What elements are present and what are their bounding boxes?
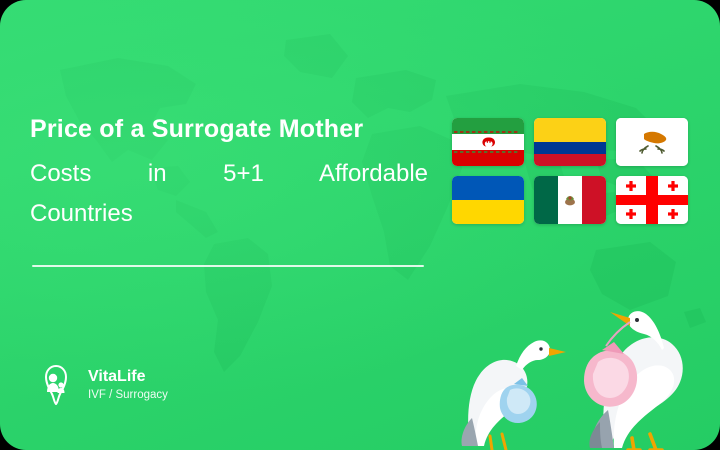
page-title: Price of a Surrogate Mother [30,112,445,146]
flag-iran [452,118,524,166]
promo-card: Price of a Surrogate Mother Costs in 5+1… [0,0,720,450]
flag-colombia [534,118,606,166]
flag-cyprus [616,118,688,166]
flag-ukraine [452,176,524,224]
brand-tagline: IVF / Surrogacy [88,387,168,404]
mother-and-baby-icon [36,362,76,408]
title-divider [32,265,424,267]
subtitle-line-1: Costs in 5+1 Affordable [30,154,428,194]
flag-grid [452,118,688,224]
flag-mexico [534,176,606,224]
subtitle-line-2: Countries [30,194,445,234]
brand-name: VitaLife [88,367,168,387]
brand-lockup: VitaLife IVF / Surrogacy [36,362,168,408]
flag-georgia [616,176,688,224]
storks-with-baby-bundles-illustration [410,250,710,450]
headline-block: Price of a Surrogate Mother Costs in 5+1… [30,112,445,234]
brand-text: VitaLife IVF / Surrogacy [88,367,168,404]
